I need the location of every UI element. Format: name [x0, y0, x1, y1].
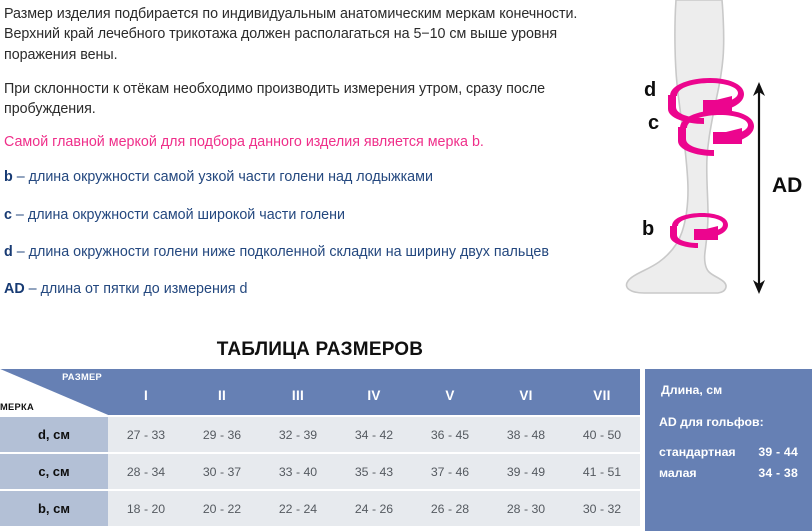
- size-table-title: ТАБЛИЦА РАЗМЕРОВ: [0, 339, 640, 361]
- cell-b-5: 26 - 28: [412, 491, 488, 526]
- highlight-note: Самой главной меркой для подбора данного…: [4, 132, 600, 152]
- info-line-small-value: 34 - 38: [758, 466, 798, 480]
- label-c: c: [648, 112, 659, 134]
- definition-d-key: d: [4, 244, 13, 260]
- definition-b-dash: –: [13, 169, 29, 185]
- row-label-d: d, см: [0, 417, 108, 452]
- leg-measurement-diagram: d c b AD: [604, 0, 812, 320]
- cell-c-5: 37 - 46: [412, 454, 488, 489]
- definition-b-text: длина окружности самой узкой части голен…: [29, 169, 433, 185]
- length-info-panel: Длина, см AD для гольфов: стандартная 39…: [645, 369, 812, 531]
- cell-b-1: 18 - 20: [108, 491, 184, 526]
- definition-c-text: длина окружности самой широкой части гол…: [28, 207, 345, 223]
- column-header-7: VII: [564, 369, 640, 415]
- table-row: d, см 27 - 33 29 - 36 32 - 39 34 - 42 36…: [0, 417, 640, 452]
- info-line-standard-name: стандартная: [659, 445, 736, 459]
- definition-c-dash: –: [12, 207, 28, 223]
- intro-paragraph-2: При склонности к отёкам необходимо произ…: [4, 79, 600, 120]
- definition-c-key: c: [4, 207, 12, 223]
- column-header-3: III: [260, 369, 336, 415]
- cell-d-1: 27 - 33: [108, 417, 184, 452]
- row-label-b: b, см: [0, 491, 108, 526]
- ad-dimension-arrow-icon: [753, 82, 765, 294]
- size-table: РАЗМЕР МЕРКА I II III IV V VI VII d, см …: [0, 369, 640, 526]
- cell-b-6: 28 - 30: [488, 491, 564, 526]
- cell-c-6: 39 - 49: [488, 454, 564, 489]
- cell-c-2: 30 - 37: [184, 454, 260, 489]
- cell-b-7: 30 - 32: [564, 491, 640, 526]
- cell-b-2: 20 - 22: [184, 491, 260, 526]
- cell-d-3: 32 - 39: [260, 417, 336, 452]
- definition-ad: AD – длина от пятки до измерения d: [4, 279, 600, 299]
- column-header-2: II: [184, 369, 260, 415]
- leg-silhouette-icon: [626, 0, 726, 293]
- row-label-c: с, см: [0, 454, 108, 489]
- definition-d-text: длина окружности голени ниже подколенной…: [29, 244, 549, 260]
- info-panel-subtitle: AD для гольфов:: [659, 415, 798, 429]
- cell-d-5: 36 - 45: [412, 417, 488, 452]
- corner-size-label: РАЗМЕР: [62, 372, 102, 382]
- table-row: с, см 28 - 34 30 - 37 33 - 40 35 - 43 37…: [0, 454, 640, 489]
- definition-b: b – длина окружности самой узкой части г…: [4, 167, 600, 187]
- cell-c-1: 28 - 34: [108, 454, 184, 489]
- size-guide-page: Размер изделия подбирается по индивидуал…: [0, 0, 812, 531]
- column-header-4: IV: [336, 369, 412, 415]
- label-d: d: [644, 79, 656, 101]
- column-header-5: V: [412, 369, 488, 415]
- table-row: b, см 18 - 20 20 - 22 22 - 24 24 - 26 26…: [0, 491, 640, 526]
- cell-c-3: 33 - 40: [260, 454, 336, 489]
- cell-c-7: 41 - 51: [564, 454, 640, 489]
- column-header-1: I: [108, 369, 184, 415]
- definition-ad-text: длина от пятки до измерения d: [41, 281, 248, 297]
- table-header-row: РАЗМЕР МЕРКА I II III IV V VI VII: [0, 369, 640, 415]
- info-line-small: малая 34 - 38: [659, 466, 798, 480]
- cell-d-7: 40 - 50: [564, 417, 640, 452]
- corner-measure-label: МЕРКА: [0, 402, 34, 412]
- definition-ad-dash: –: [25, 281, 41, 297]
- definition-c: c – длина окружности самой широкой части…: [4, 205, 600, 225]
- intro-paragraph-1: Размер изделия подбирается по индивидуал…: [4, 4, 600, 65]
- cell-d-2: 29 - 36: [184, 417, 260, 452]
- definition-d-dash: –: [13, 244, 29, 260]
- label-ad: AD: [772, 174, 802, 197]
- cell-c-4: 35 - 43: [336, 454, 412, 489]
- table-corner-cell: РАЗМЕР МЕРКА: [0, 369, 108, 415]
- label-b: b: [642, 218, 654, 240]
- instructions-text-block: Размер изделия подбирается по индивидуал…: [4, 4, 600, 300]
- definition-b-key: b: [4, 169, 13, 185]
- cell-d-4: 34 - 42: [336, 417, 412, 452]
- info-panel-title: Длина, см: [661, 383, 798, 397]
- info-line-standard-value: 39 - 44: [758, 445, 798, 459]
- cell-d-6: 38 - 48: [488, 417, 564, 452]
- definition-d: d – длина окружности голени ниже подколе…: [4, 242, 600, 262]
- definition-ad-key: AD: [4, 281, 25, 297]
- info-line-standard: стандартная 39 - 44: [659, 445, 798, 459]
- info-line-small-name: малая: [659, 466, 697, 480]
- column-header-6: VI: [488, 369, 564, 415]
- cell-b-3: 22 - 24: [260, 491, 336, 526]
- cell-b-4: 24 - 26: [336, 491, 412, 526]
